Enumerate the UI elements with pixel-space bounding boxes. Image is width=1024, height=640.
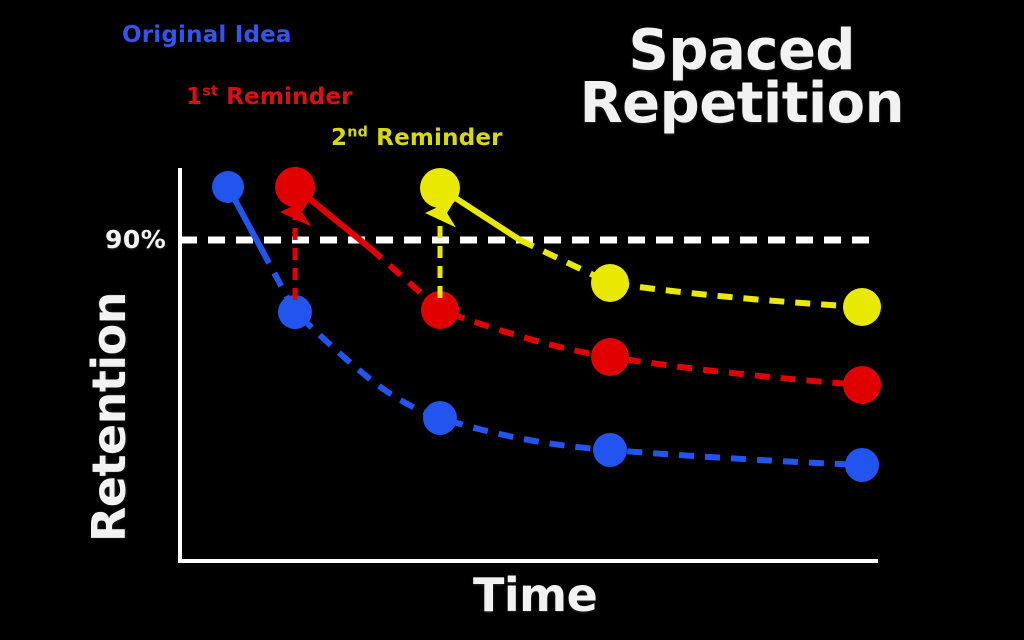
plot-area — [0, 0, 1024, 640]
data-point-first-reminder — [275, 167, 315, 207]
series-first-reminder — [275, 167, 881, 404]
series-original-idea — [212, 171, 879, 482]
data-point-second-reminder — [591, 264, 629, 302]
axis-lines — [178, 168, 878, 563]
data-point-original-idea — [423, 401, 457, 435]
data-point-original-idea — [278, 295, 312, 329]
data-point-first-reminder — [591, 338, 629, 376]
data-point-original-idea — [845, 448, 879, 482]
data-point-first-reminder — [843, 366, 881, 404]
spaced-repetition-figure: Original Idea 1st Reminder 2nd Reminder … — [0, 0, 1024, 640]
data-point-second-reminder — [420, 168, 460, 208]
data-point-original-idea — [593, 433, 627, 467]
series-original-idea-curve — [262, 250, 862, 465]
data-point-original-idea — [212, 171, 244, 203]
data-point-second-reminder — [843, 288, 881, 326]
series-second-reminder — [420, 168, 881, 326]
series-second-reminder-curve — [520, 240, 862, 307]
